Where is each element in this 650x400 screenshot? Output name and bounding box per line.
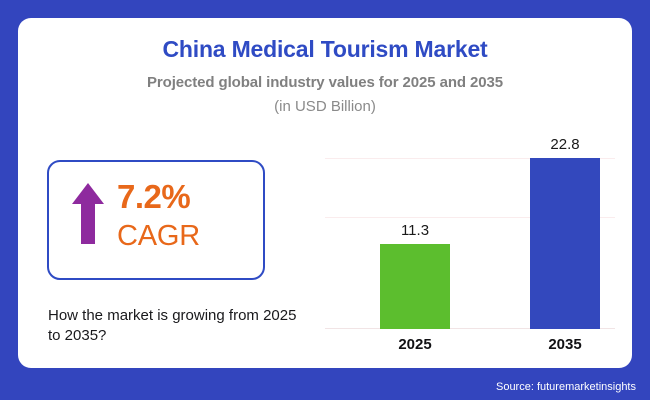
bar-chart: 22.8 11.3 2025 2035	[325, 138, 615, 353]
arrow-up-icon	[71, 180, 105, 246]
bar-value-2035: 22.8	[520, 136, 610, 153]
cagr-value: 7.2%	[117, 178, 190, 216]
category-label-2025: 2025	[370, 336, 460, 353]
page-title: China Medical Tourism Market	[18, 36, 632, 63]
infographic-frame: China Medical Tourism Market Projected g…	[0, 0, 650, 400]
cagr-label: CAGR	[117, 220, 200, 253]
bar-2035	[530, 158, 600, 329]
bar-value-2025: 11.3	[370, 222, 460, 239]
units-label: (in USD Billion)	[18, 98, 632, 115]
growth-question: How the market is growing from 2025 to 2…	[48, 306, 298, 346]
bar-2025	[380, 244, 450, 329]
category-label-2035: 2035	[520, 336, 610, 353]
subtitle: Projected global industry values for 202…	[18, 74, 632, 91]
source-credit: Source: futuremarketinsights	[496, 381, 636, 393]
content-card: China Medical Tourism Market Projected g…	[18, 18, 632, 368]
cagr-panel: 7.2% CAGR	[47, 160, 265, 280]
